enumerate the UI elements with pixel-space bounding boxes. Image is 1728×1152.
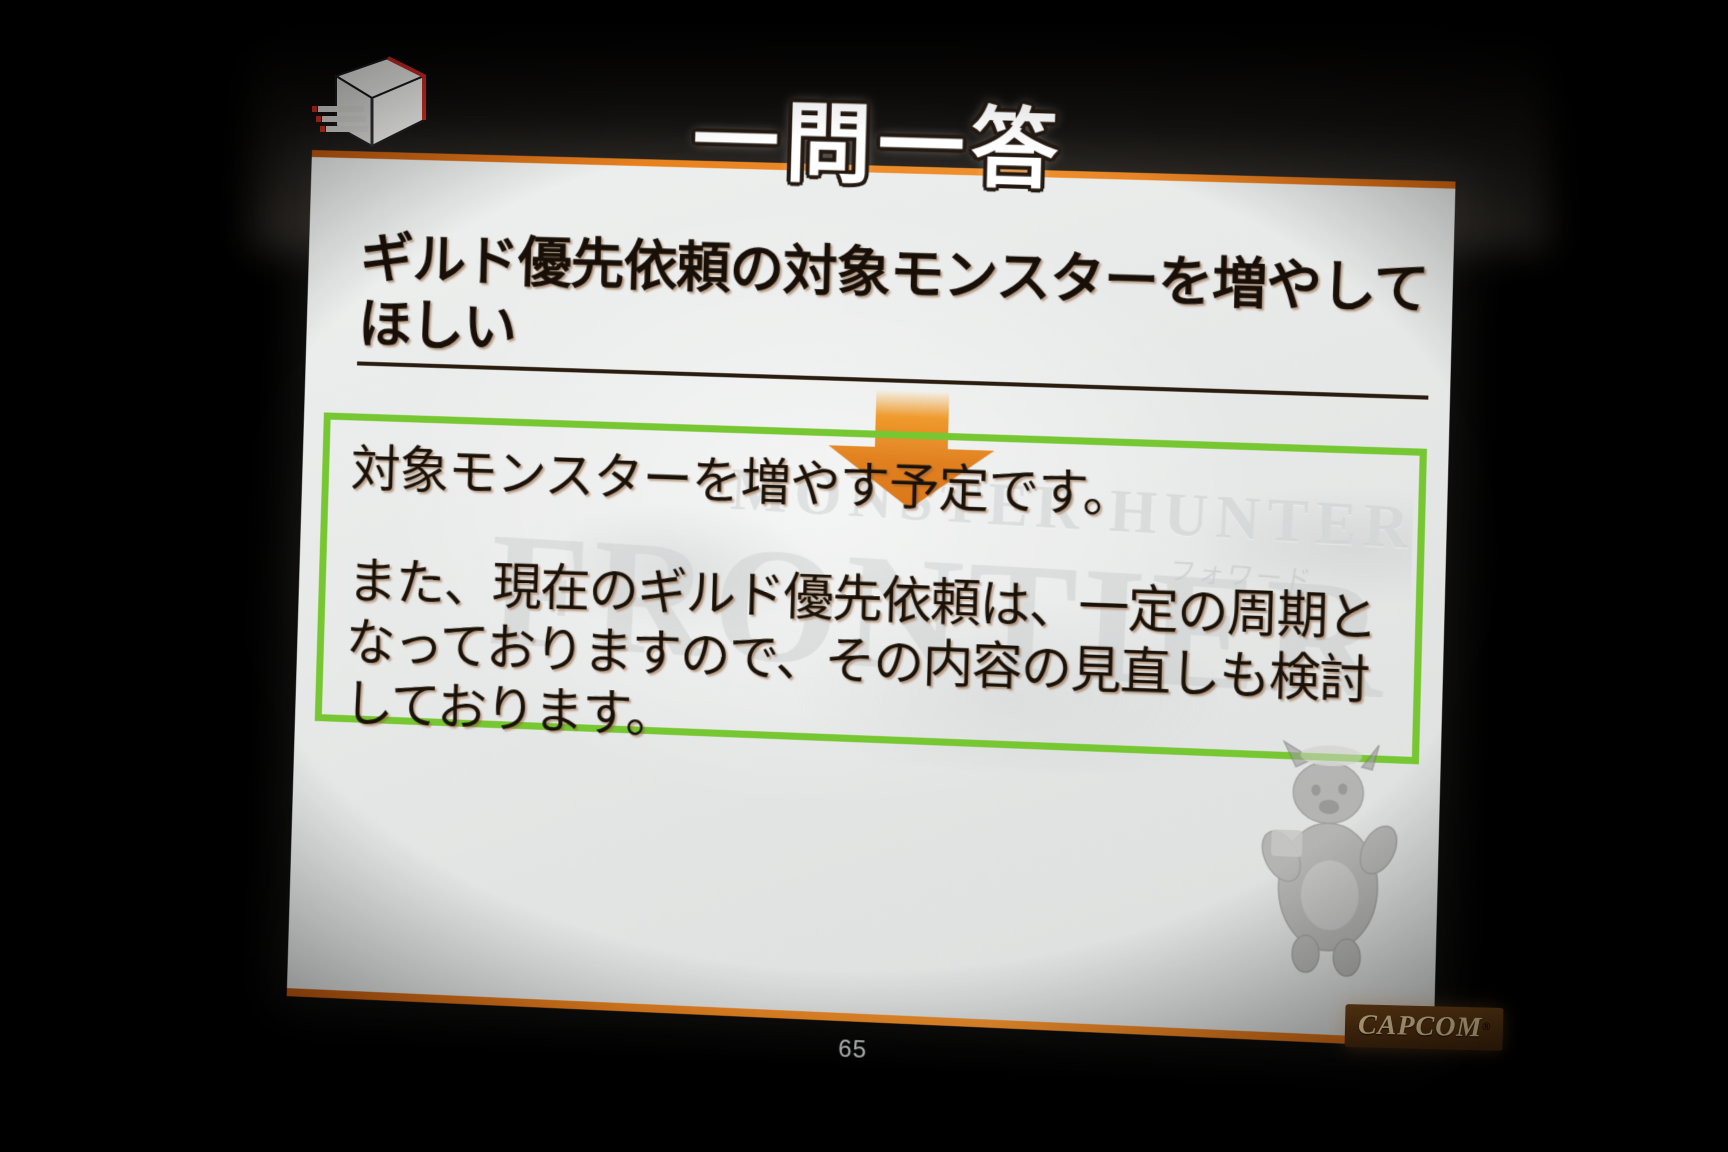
capcom-registered-mark: ® (1482, 1021, 1490, 1033)
answer-box: 対象モンスターを増やす予定です。 また、現在のギルド優先依頼は、一定の周期となっ… (315, 412, 1427, 764)
question-text: ギルド優先依頼の対象モンスターを増やしてほしい (357, 225, 1432, 399)
answer-paragraph-2: また、現在のギルド優先依頼は、一定の周期となっておりますので、その内容の見直しも… (343, 551, 1405, 776)
photo-scene: MONSTER HUNTER FRONTIER フォワード 一問一答 ギルド優先… (0, 0, 1728, 1152)
projected-slide: MONSTER HUNTER FRONTIER フォワード 一問一答 ギルド優先… (287, 150, 1456, 1048)
capcom-logo: CAPCOM® (1344, 1004, 1503, 1051)
page-number: 65 (285, 1010, 1433, 1091)
answer-line-1: 対象モンスターを増やす予定です。 (350, 438, 1134, 525)
slide-top-rule (312, 150, 1456, 189)
capcom-logo-text: CAPCOM (1358, 1009, 1483, 1043)
slide-title: 一問一答 (311, 88, 1457, 206)
